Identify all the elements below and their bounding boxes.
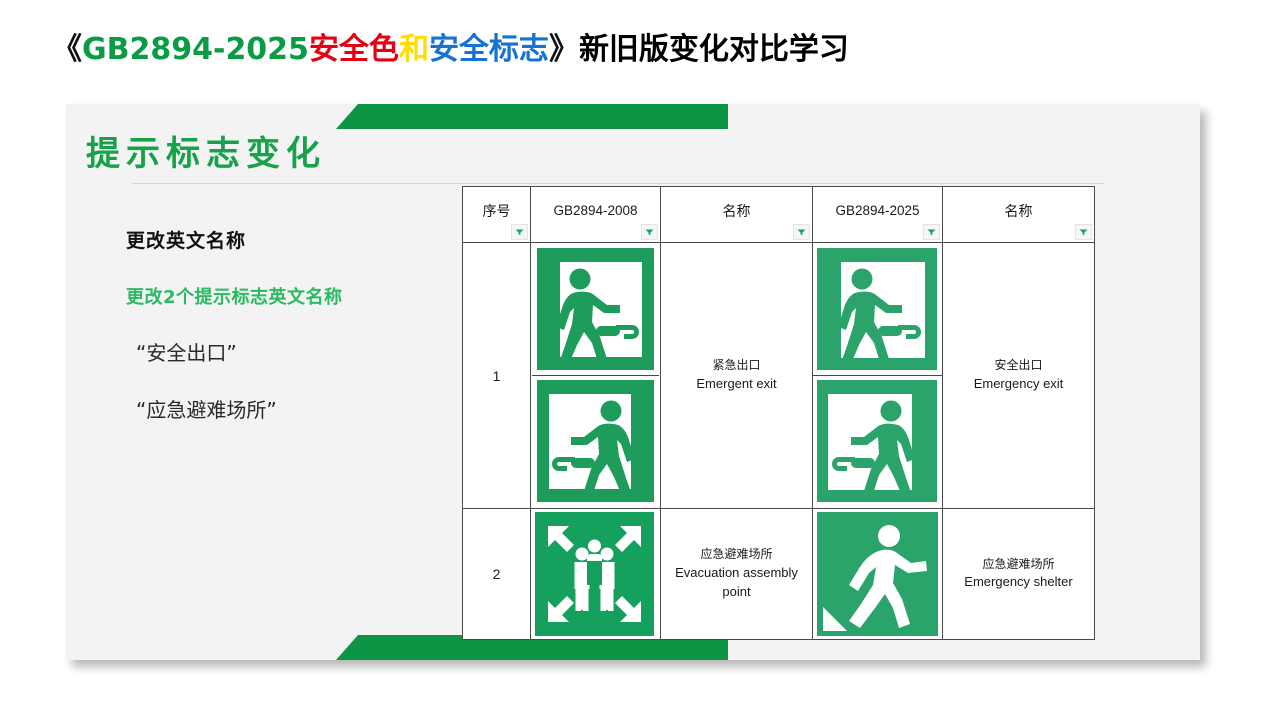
- old-name-en-2: Evacuation assembly point: [661, 564, 812, 602]
- comparison-table: 序号 GB2894-2008 名称: [462, 186, 1095, 640]
- page-title: 《GB2894-2025安全色和安全标志》新旧版变化对比学习: [52, 24, 849, 68]
- filter-dropdown-icon-old-name[interactable]: [793, 224, 810, 240]
- left-panel-item-2: “应急避难场所”: [136, 394, 476, 423]
- column-header-old-standard-label: GB2894-2008: [531, 203, 660, 226]
- row-index-1: 1: [463, 243, 531, 509]
- old-sign-cell-2: [531, 509, 661, 640]
- new-name-zh-2: 应急避难场所: [943, 556, 1094, 573]
- exit-running-man-right-green-border-icon-new: [813, 244, 942, 375]
- column-header-old-standard[interactable]: GB2894-2008: [531, 187, 661, 243]
- title-segment-safety-color: 安全色: [309, 32, 399, 67]
- left-panel-item-1: “安全出口”: [136, 337, 476, 366]
- comparison-table-wrapper: 序号 GB2894-2008 名称: [462, 186, 1095, 640]
- column-header-new-standard-label: GB2894-2025: [813, 203, 942, 226]
- new-sign-cell-1: [813, 243, 943, 509]
- column-header-old-name-label: 名称: [661, 201, 812, 229]
- table-header-row: 序号 GB2894-2008 名称: [463, 187, 1095, 243]
- left-panel-heading: 更改英文名称: [126, 226, 476, 253]
- column-header-old-name[interactable]: 名称: [661, 187, 813, 243]
- old-name-zh-2: 应急避难场所: [661, 546, 812, 563]
- title-open-bracket: 《: [52, 32, 82, 67]
- filter-dropdown-icon-index[interactable]: [511, 224, 528, 240]
- title-close-bracket: 》: [549, 32, 579, 67]
- title-segment-safety-sign: 安全标志: [429, 32, 549, 67]
- column-header-new-name-label: 名称: [943, 201, 1094, 229]
- column-header-new-standard[interactable]: GB2894-2025: [813, 187, 943, 243]
- exit-running-man-left-green-border-icon: [532, 375, 659, 507]
- section-divider: [132, 183, 1104, 184]
- title-suffix: 新旧版变化对比学习: [579, 32, 849, 67]
- column-header-new-name[interactable]: 名称: [943, 187, 1095, 243]
- table-body: 1: [463, 243, 1095, 640]
- left-text-panel: 更改英文名称 更改2个提示标志英文名称 “安全出口” “应急避难场所”: [126, 226, 476, 423]
- exit-running-man-left-green-border-icon-new: [813, 375, 942, 507]
- new-name-cell-1: 安全出口 Emergency exit: [943, 243, 1095, 509]
- emergency-shelter-running-man-icon: [813, 509, 942, 639]
- title-segment-and: 和: [399, 32, 429, 67]
- exit-running-man-right-green-border-icon: [532, 244, 659, 375]
- left-panel-subheading: 更改2个提示标志英文名称: [126, 283, 476, 309]
- column-header-index[interactable]: 序号: [463, 187, 531, 243]
- old-sign-cell-1: [531, 243, 661, 509]
- new-name-en-2: Emergency shelter: [943, 573, 1094, 592]
- filter-dropdown-icon-old-standard[interactable]: [641, 224, 658, 240]
- title-segment-standard: GB2894-2025: [82, 32, 309, 67]
- section-heading: 提示标志变化: [86, 126, 1126, 184]
- filter-dropdown-icon-new-standard[interactable]: [923, 224, 940, 240]
- row-index-2: 2: [463, 509, 531, 640]
- new-name-zh-1: 安全出口: [943, 357, 1094, 374]
- old-name-cell-2: 应急避难场所 Evacuation assembly point: [661, 509, 813, 640]
- table-header: 序号 GB2894-2008 名称: [463, 187, 1095, 243]
- new-name-cell-2: 应急避难场所 Emergency shelter: [943, 509, 1095, 640]
- content-card: 提示标志变化 更改英文名称 更改2个提示标志英文名称 “安全出口” “应急避难场…: [66, 104, 1200, 660]
- new-name-en-1: Emergency exit: [943, 375, 1094, 394]
- old-name-en-1: Emergent exit: [661, 375, 812, 394]
- table-row: 2: [463, 509, 1095, 640]
- filter-dropdown-icon-new-name[interactable]: [1075, 224, 1092, 240]
- old-name-cell-1: 紧急出口 Emergent exit: [661, 243, 813, 509]
- new-sign-cell-2: [813, 509, 943, 640]
- evacuation-assembly-point-icon: [531, 509, 660, 639]
- section-title: 提示标志变化: [86, 126, 1126, 175]
- table-row: 1: [463, 243, 1095, 509]
- old-name-zh-1: 紧急出口: [661, 357, 812, 374]
